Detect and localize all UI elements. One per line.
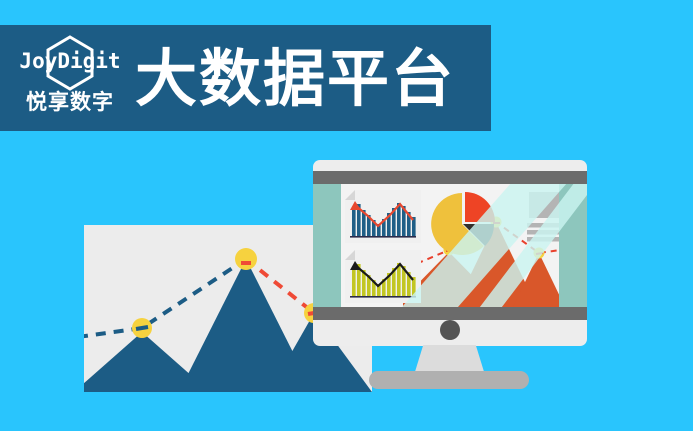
stand-base <box>369 371 529 389</box>
data-point-marker <box>235 248 257 270</box>
marker-dash-overlay <box>136 327 148 329</box>
poster-canvas: JoyDigit 悦享数字 大数据平台 <box>0 0 693 431</box>
monitor-stand <box>313 0 587 431</box>
logo-subtitle: 悦享数字 <box>16 91 124 115</box>
brand-logo: JoyDigit 悦享数字 <box>16 35 124 121</box>
logo-wordmark: JoyDigit <box>16 50 124 72</box>
